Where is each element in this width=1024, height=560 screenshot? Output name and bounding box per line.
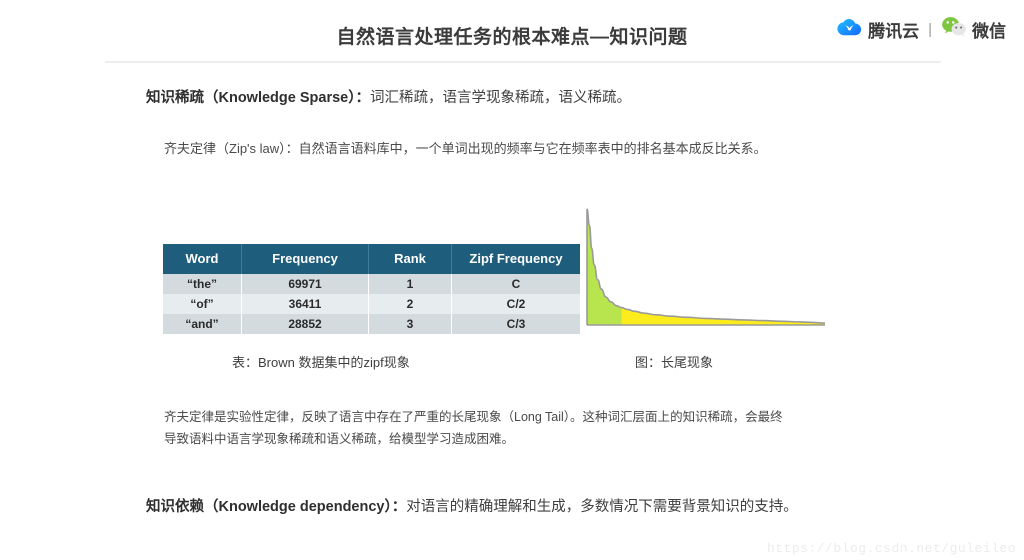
table-cell-frequency: 28852 (242, 314, 369, 334)
tencent-cloud-icon (837, 17, 863, 42)
table-cell-rank: 1 (369, 274, 452, 294)
paragraph-line-2: 导致语料中语言学现象稀疏和语义稀疏，给模型学习造成困难。 (164, 429, 783, 451)
brand-bar: 腾讯云 | 微信 (837, 16, 1006, 43)
bullet-knowledge-sparse-rest: 词汇稀疏，语言学现象稀疏，语义稀疏。 (370, 90, 631, 106)
brand-tencent-cloud: 腾讯云 (837, 17, 919, 42)
zipf-table-container: Word Frequency Rank Zipf Frequency “the”… (163, 244, 580, 334)
zipf-table: Word Frequency Rank Zipf Frequency “the”… (163, 244, 580, 334)
table-cell-word: “of” (163, 294, 242, 314)
table-cell-zipf-frequency: C/3 (452, 314, 581, 334)
brand-label-tencent-cloud: 腾讯云 (868, 17, 919, 42)
table-cell-zipf-frequency: C (452, 274, 581, 294)
table-row: “and” 28852 3 C/3 (163, 314, 580, 334)
header-divider (105, 61, 941, 63)
paragraph-line-1: 齐夫定律是实验性定律，反映了语言中存在了严重的长尾现象（Long Tail）。这… (164, 407, 783, 429)
zipf-law-definition: 齐夫定律（Zip's law）：自然语言语料库中，一个单词出现的频率与它在频率表… (164, 138, 767, 157)
bullet-knowledge-sparse-lead: 知识稀疏（Knowledge Sparse）： (146, 90, 370, 106)
table-cell-rank: 2 (369, 294, 452, 314)
table-header-frequency: Frequency (242, 244, 369, 274)
table-header-rank: Rank (369, 244, 452, 274)
table-cell-frequency: 69971 (242, 274, 369, 294)
table-cell-rank: 3 (369, 314, 452, 334)
figure-caption: 图：长尾现象 (635, 352, 713, 371)
bullet-knowledge-sparse: 知识稀疏（Knowledge Sparse）：词汇稀疏，语言学现象稀疏，语义稀疏… (146, 88, 631, 110)
bullet-knowledge-dependency: 知识依赖（Knowledge dependency）：对语言的精确理解和生成，多… (146, 497, 798, 519)
table-caption: 表：Brown 数据集中的zipf现象 (232, 352, 410, 371)
brand-label-wechat: 微信 (972, 17, 1006, 42)
table-header-zipf-frequency: Zipf Frequency (452, 244, 581, 274)
table-cell-zipf-frequency: C/2 (452, 294, 581, 314)
table-cell-word: “and” (163, 314, 242, 334)
table-header-row: Word Frequency Rank Zipf Frequency (163, 244, 580, 274)
zipf-explanation-paragraph: 齐夫定律是实验性定律，反映了语言中存在了严重的长尾现象（Long Tail）。这… (164, 407, 783, 451)
wechat-icon (941, 16, 967, 43)
brand-separator: | (928, 21, 932, 38)
bullet-knowledge-dependency-rest: 对语言的精确理解和生成，多数情况下需要背景知识的支持。 (406, 499, 798, 515)
table-row: “of” 36411 2 C/2 (163, 294, 580, 314)
table-cell-word: “the” (163, 274, 242, 294)
brand-wechat: 微信 (941, 16, 1006, 43)
long-tail-chart (575, 207, 829, 337)
csdn-watermark: https://blog.csdn.net/guleileo (767, 541, 1016, 556)
table-row: “the” 69971 1 C (163, 274, 580, 294)
table-header-word: Word (163, 244, 242, 274)
bullet-knowledge-dependency-lead: 知识依赖（Knowledge dependency）： (146, 499, 406, 515)
table-cell-frequency: 36411 (242, 294, 369, 314)
